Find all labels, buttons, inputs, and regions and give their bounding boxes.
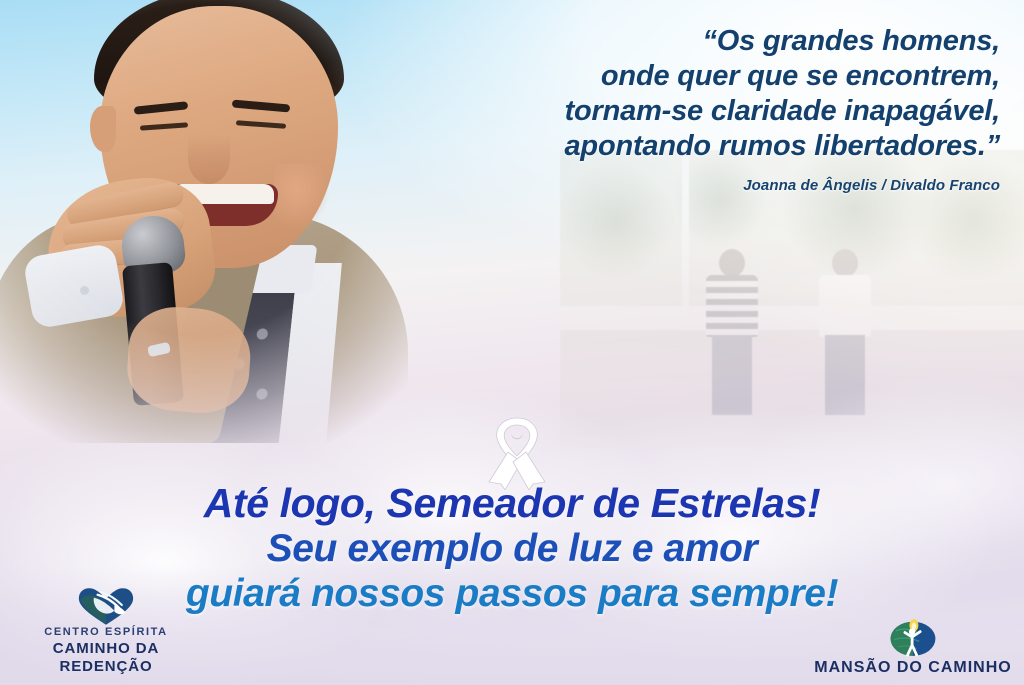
quote-line-1: “Os grandes homens, [380,24,1000,59]
portrait-cheek [274,164,330,230]
logo-left-line-1: CENTRO ESPÍRITA [6,626,206,640]
logo-right-line-1: MANSÃO DO CAMINHO [808,659,1018,677]
mourning-ribbon-icon [481,408,553,490]
heart-hands-icon [6,586,206,626]
logo-mansao-do-caminho: MANSÃO DO CAMINHO [808,617,1018,677]
portrait-photo [0,0,412,443]
portrait-ear [90,106,116,152]
background-person-white-shirt [819,249,871,414]
quote-attribution: Joanna de Ângelis / Divaldo Franco [380,177,1000,194]
tribute-line-2: Seu exemplo de luz e amor [0,529,1024,570]
quote-line-3: tornam-se claridade inapagável, [380,94,1000,129]
portrait-cuff-button [80,286,89,295]
background-ground [560,330,1024,450]
memorial-poster: “Os grandes homens, onde quer que se enc… [0,0,1024,685]
tribute-line-1: Até logo, Semeador de Estrelas! [0,482,1024,525]
logo-left-line-2: CAMINHO DA REDENÇÃO [6,640,206,678]
quote-line-4: apontando rumos libertadores.” [380,129,1000,164]
portrait-nose [188,134,230,184]
globe-figure-icon [808,617,1018,657]
quote-line-2: onde quer que se encontrem, [380,59,1000,94]
background-wall [560,306,1024,333]
quote-block: “Os grandes homens, onde quer que se enc… [380,24,1000,194]
background-person-striped-shirt [706,249,758,414]
logo-centro-espirita-caminho-da-redencao: CENTRO ESPÍRITA CAMINHO DA REDENÇÃO [6,586,206,677]
faded-photo-two-people-walking [560,150,1024,450]
